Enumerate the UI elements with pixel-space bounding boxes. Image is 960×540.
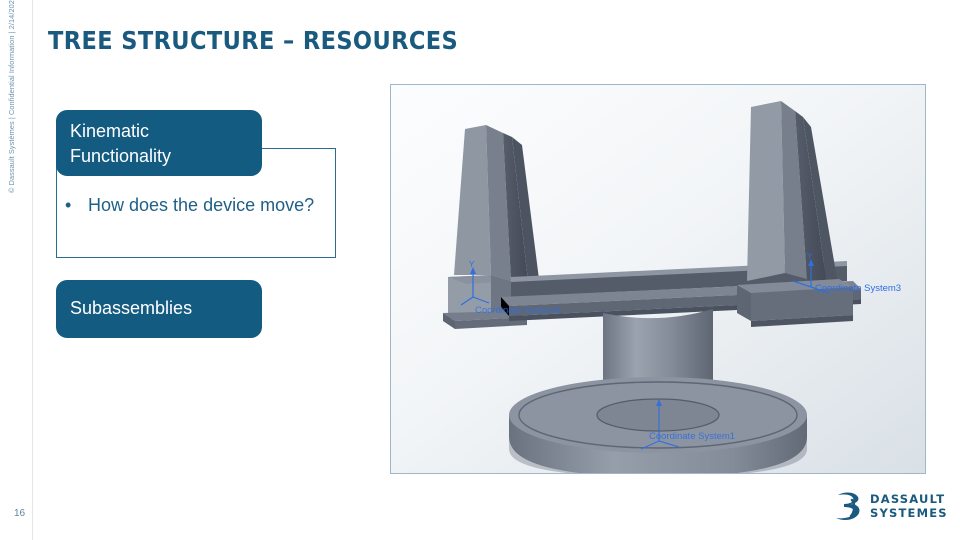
brand-wordmark: DASSAULT SYSTEMES [870,493,948,520]
bullet-label: How does the device move? [88,192,315,219]
brand-line-1: DASSAULT [870,493,948,507]
brand-line-2: SYSTEMES [870,507,948,521]
slide-canvas: © Dassault Systèmes | Confidential Infor… [0,0,960,540]
3ds-compass-icon [832,491,866,523]
cad-image-panel[interactable]: Y Coordinate System2 Y Coordinate System… [390,84,926,474]
dassault-systemes-logo: DASSAULT SYSTEMES [832,490,950,526]
bullet-marker: • [65,192,71,219]
cad-model-illustration: Y Coordinate System2 Y Coordinate System… [391,85,925,473]
bullet-list-item: • How does the device move? [65,192,315,219]
confidential-note: © Dassault Systèmes | Confidential Infor… [7,23,16,193]
chip-kinematic-functionality[interactable]: Kinematic Functionality [56,110,262,176]
axis-label-y: Y [469,260,475,269]
chip-subassemblies-label: Subassemblies [70,296,192,321]
base-disc [509,377,807,473]
chip-kinematic-line2: Functionality [70,144,248,169]
annotation-label-2: Coordinate System2 [475,305,561,316]
chip-kinematic-line1: Kinematic [70,119,248,144]
annotation-label-1: Coordinate System1 [649,431,735,442]
page-number: 16 [14,508,25,519]
svg-text:Y: Y [807,252,813,261]
left-vertical-rule [32,0,33,540]
page-title: TREE STRUCTURE – RESOURCES [48,26,458,55]
chip-subassemblies[interactable]: Subassemblies [56,280,262,338]
annotation-label-3: Coordinate System3 [815,283,901,294]
